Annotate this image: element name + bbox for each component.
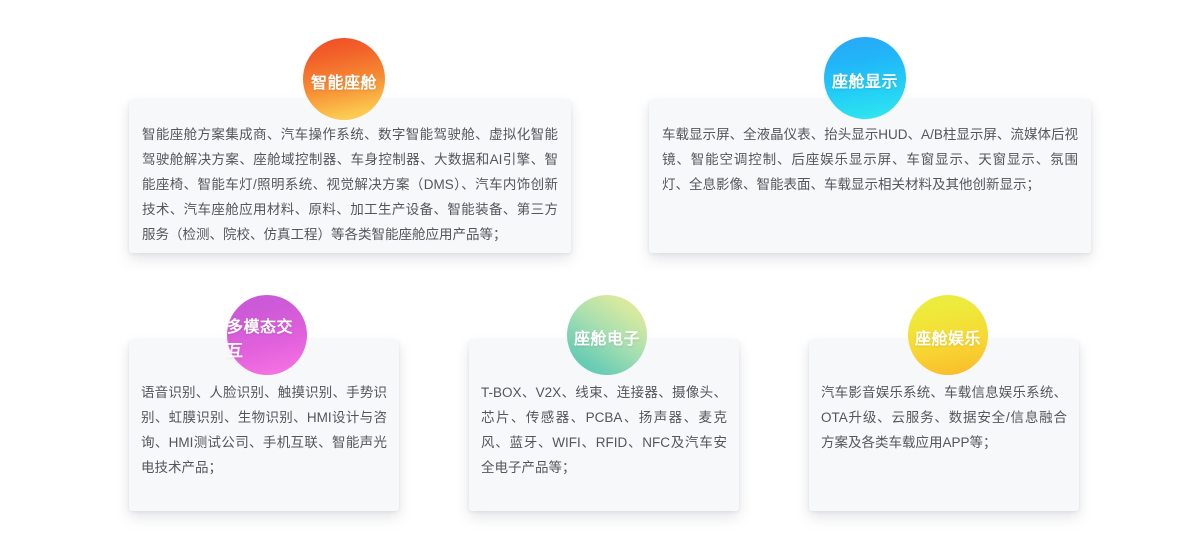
badge-label-cockpit-display: 座舱显示 [832,68,898,92]
badge-cockpit-entertainment[interactable]: 座舱娱乐 [908,295,988,375]
badge-multimodal-interaction[interactable]: 多模态交互 [227,295,307,375]
badge-label-cockpit-electronics: 座舱电子 [574,325,640,349]
card-body-cockpit-display: 车载显示屏、全液晶仪表、抬头显示HUD、A/B柱显示屏、流媒体后视镜、智能空调控… [662,122,1078,197]
badge-cockpit-electronics[interactable]: 座舱电子 [567,295,647,375]
card-body-multimodal-interaction: 语音识别、人脸识别、触摸识别、手势识别、虹膜识别、生物识别、HMI设计与咨询、H… [141,380,387,480]
card-body-smart-cockpit: 智能座舱方案集成商、汽车操作系统、数字智能驾驶舱、虚拟化智能驾驶舱解决方案、座舱… [142,122,558,247]
card-cockpit-display[interactable]: 车载显示屏、全液晶仪表、抬头显示HUD、A/B柱显示屏、流媒体后视镜、智能空调控… [649,100,1091,253]
badge-label-multimodal-interaction: 多模态交互 [227,313,307,361]
badge-cockpit-display[interactable]: 座舱显示 [824,37,906,119]
card-body-cockpit-entertainment: 汽车影音娱乐系统、车载信息娱乐系统、OTA升级、云服务、数据安全/信息融合方案及… [821,380,1067,455]
card-smart-cockpit[interactable]: 智能座舱方案集成商、汽车操作系统、数字智能驾驶舱、虚拟化智能驾驶舱解决方案、座舱… [129,100,571,253]
card-body-cockpit-electronics: T-BOX、V2X、线束、连接器、摄像头、芯片、传感器、PCBA、扬声器、麦克风… [481,380,727,480]
badge-label-smart-cockpit: 智能座舱 [311,69,377,93]
page-root: 智能座舱方案集成商、汽车操作系统、数字智能驾驶舱、虚拟化智能驾驶舱解决方案、座舱… [0,0,1200,550]
badge-smart-cockpit[interactable]: 智能座舱 [303,38,385,120]
badge-label-cockpit-entertainment: 座舱娱乐 [915,325,981,349]
